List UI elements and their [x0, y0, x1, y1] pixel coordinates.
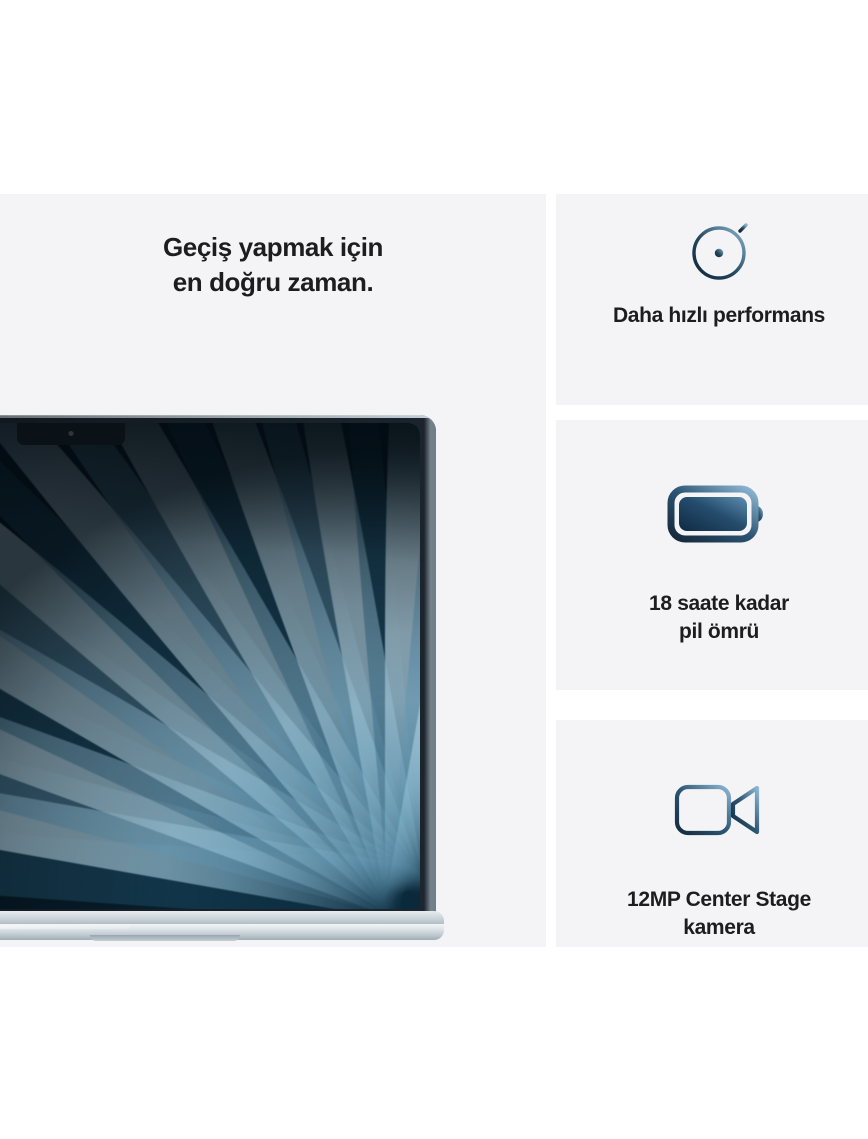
headline-line-1: Geçiş yapmak için — [0, 230, 546, 265]
feature-label-performance-line-1: Daha hızlı performans — [548, 302, 868, 330]
video-camera-icon-wrap — [556, 770, 868, 850]
laptop-screen — [0, 423, 420, 909]
feature-card-performance[interactable]: Daha hızlı performans — [556, 194, 868, 405]
laptop-base — [0, 911, 444, 945]
feature-label-performance: Daha hızlı performans — [548, 302, 868, 330]
video-camera-icon — [673, 779, 765, 841]
feature-label-camera: 12MP Center Stage kamera — [548, 886, 868, 941]
battery-icon — [667, 483, 771, 545]
stopwatch-icon-wrap — [556, 208, 868, 284]
feature-card-camera[interactable]: 12MP Center Stage kamera — [556, 720, 868, 947]
wallpaper-vignette — [0, 423, 420, 909]
screen-notch — [17, 423, 125, 445]
feature-label-battery-line-1: 18 saate kadar — [548, 590, 868, 618]
feature-label-battery-line-2: pil ömrü — [548, 618, 868, 646]
stopwatch-icon — [683, 208, 755, 284]
feature-card-list: Daha hızlı performans — [556, 194, 868, 947]
feature-label-battery: 18 saate kadar pil ömrü — [548, 590, 868, 645]
feature-card-battery[interactable]: 18 saate kadar pil ömrü — [556, 420, 868, 690]
hero-panel: Geçiş yapmak için en doğru zaman. — [0, 194, 546, 947]
product-feature-page: Geçiş yapmak için en doğru zaman. — [0, 0, 868, 1139]
macbook-product-image — [0, 415, 436, 945]
laptop-lid — [0, 415, 436, 917]
laptop-base-finger-notch — [90, 935, 240, 941]
headline-line-2: en doğru zaman. — [0, 265, 546, 300]
laptop-base-highlight — [0, 925, 130, 929]
page-title: Geçiş yapmak için en doğru zaman. — [0, 230, 546, 299]
feature-label-camera-line-2: kamera — [548, 914, 868, 942]
facetime-camera-dot — [69, 431, 74, 436]
screen-wallpaper — [0, 423, 420, 909]
battery-icon-wrap — [556, 474, 868, 554]
feature-label-camera-line-1: 12MP Center Stage — [548, 886, 868, 914]
